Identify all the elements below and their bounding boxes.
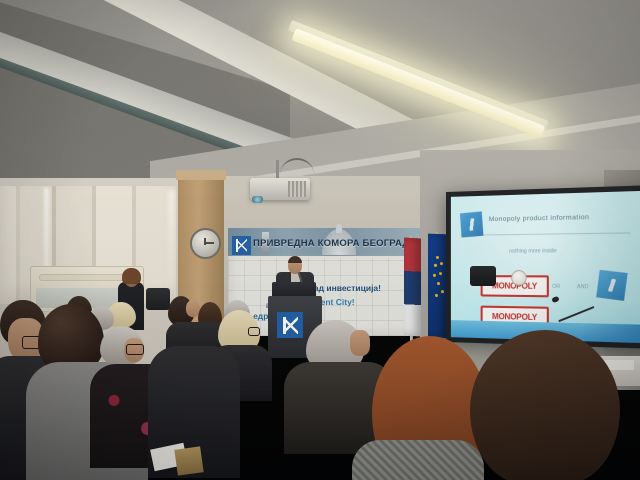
projector-vent-icon: [288, 181, 306, 197]
eyeglasses-icon: [248, 327, 260, 336]
slide-connector-and: AND: [577, 284, 589, 290]
handbag: [146, 288, 170, 310]
slide-subtitle: nothing more inside: [509, 248, 557, 255]
standing-woman-hair: [122, 268, 141, 284]
photo-scene: ПРИВРЕДНА КОМОРА БЕОГРАДА - град инвести…: [0, 0, 640, 480]
slide-connector-or: OR: [552, 284, 560, 290]
attendee-dark-hair: [470, 330, 620, 480]
handbag-2: [470, 266, 496, 286]
chamber-of-commerce-logo: [232, 236, 251, 255]
projector-mount-rod: [276, 160, 279, 180]
banner-headline: ПРИВРЕДНА КОМОРА БЕОГРАДА: [253, 238, 421, 249]
chamber-of-commerce-logo: [277, 312, 303, 338]
window-light-gap-2: [168, 190, 175, 290]
attendee-profile-face: [350, 330, 370, 356]
folder: [174, 446, 203, 475]
eyeglasses-icon-4: [126, 344, 144, 355]
wood-pillar-cap: [176, 170, 226, 180]
serbia-flag: [404, 238, 421, 337]
european-union-flag: [428, 234, 448, 339]
wall-clock: [190, 228, 221, 259]
slide-brand-tile-icon: [596, 270, 627, 301]
speaker-hair: [288, 256, 302, 263]
projector-lens-icon: [252, 196, 263, 203]
attendee-auburn-shoulders: [352, 440, 484, 480]
monopoly-wordmark: MONOPOLY: [492, 281, 537, 291]
